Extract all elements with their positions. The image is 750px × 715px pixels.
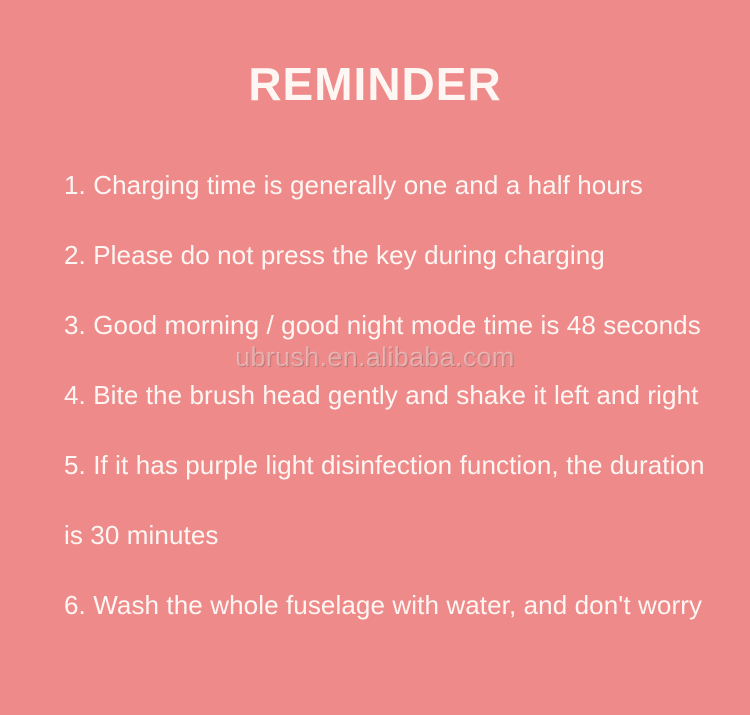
reminder-item-3: 3. Good morning / good night mode time i…	[64, 290, 704, 360]
page-title: REMINDER	[0, 56, 750, 112]
reminder-item-5: 5. If it has purple light disinfection f…	[64, 430, 704, 500]
reminder-list: 1. Charging time is generally one and a …	[64, 150, 704, 640]
reminder-item-1: 1. Charging time is generally one and a …	[64, 150, 704, 220]
reminder-item-5-continued: is 30 minutes	[64, 500, 704, 570]
reminder-item-4: 4. Bite the brush head gently and shake …	[64, 360, 704, 430]
reminder-item-6: 6. Wash the whole fuselage with water, a…	[64, 570, 704, 640]
reminder-item-2: 2. Please do not press the key during ch…	[64, 220, 704, 290]
reminder-poster: REMINDER 1. Charging time is generally o…	[0, 0, 750, 715]
